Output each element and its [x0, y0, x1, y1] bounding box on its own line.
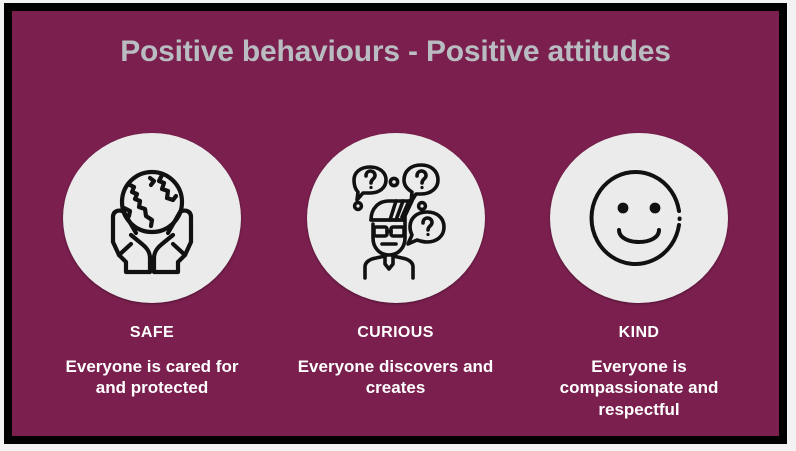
icon-circle-curious	[307, 133, 485, 303]
value-description-safe: Everyone is cared for and protected	[52, 356, 252, 400]
value-description-curious: Everyone discovers and creates	[296, 356, 496, 400]
hands-holding-globe-icon	[88, 154, 216, 282]
slide-canvas: Positive behaviours - Positive attitudes	[12, 11, 779, 436]
slide-root: Positive behaviours - Positive attitudes	[0, 0, 796, 451]
value-description-kind: Everyone is compassionate and respectful	[550, 356, 728, 421]
value-column-kind: KIND Everyone is compassionate and respe…	[539, 133, 739, 421]
person-with-question-bubbles-icon	[332, 154, 460, 282]
value-column-safe: SAFE Everyone is cared for and protected	[52, 133, 252, 421]
value-name-kind: KIND	[619, 324, 660, 342]
smiley-face-icon	[575, 154, 703, 282]
value-column-curious: CURIOUS Everyone discovers and creates	[296, 133, 496, 421]
value-name-curious: CURIOUS	[357, 324, 434, 342]
slide-border-frame: Positive behaviours - Positive attitudes	[4, 3, 787, 444]
page-title: Positive behaviours - Positive attitudes	[12, 35, 779, 68]
icon-circle-kind	[550, 133, 728, 303]
values-row: SAFE Everyone is cared for and protected	[12, 133, 779, 421]
icon-circle-safe	[63, 133, 241, 303]
value-name-safe: SAFE	[130, 324, 174, 342]
